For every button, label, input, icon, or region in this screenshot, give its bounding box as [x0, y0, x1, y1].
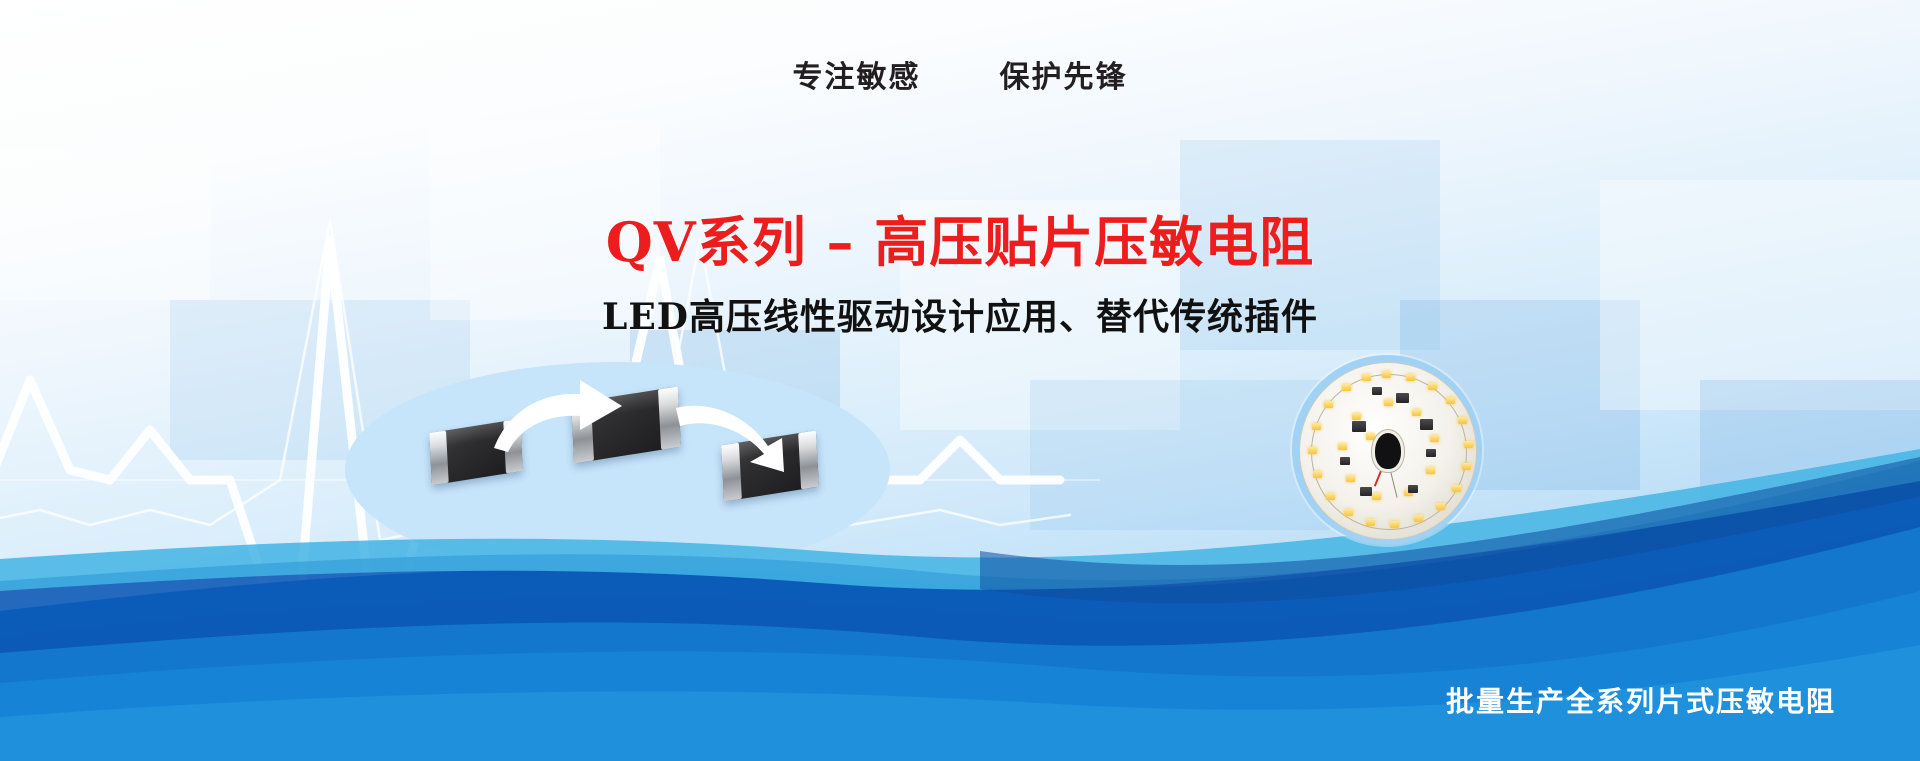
tagline-part-1: 专注敏感	[793, 60, 921, 95]
led-chip	[1308, 447, 1317, 454]
smd-component	[1352, 421, 1366, 432]
led-chip	[1452, 485, 1461, 492]
led-chip	[1436, 503, 1445, 510]
led-chip	[1426, 467, 1435, 474]
led-pcb-board	[1299, 362, 1477, 540]
progression-arrow-1-icon	[488, 378, 628, 456]
led-chip	[1412, 409, 1421, 416]
led-chip	[1338, 443, 1347, 450]
led-chip	[1326, 493, 1335, 500]
led-chip	[1446, 397, 1455, 404]
tagline-part-2: 保护先锋	[999, 60, 1127, 95]
led-chip	[1462, 463, 1471, 470]
led-chip	[1382, 371, 1391, 378]
product-banner: 专注敏感 保护先锋 QV系列 – 高压贴片压敏电阻 LED高压线性驱动设计应用、…	[0, 0, 1920, 761]
smd-component	[1360, 487, 1372, 496]
headline: QV系列 – 高压贴片压敏电阻	[0, 198, 1920, 277]
led-chip	[1430, 435, 1439, 442]
led-pcb-module	[1292, 355, 1482, 545]
smd-component	[1426, 449, 1436, 457]
led-chip	[1414, 515, 1423, 522]
led-chip	[1428, 383, 1437, 390]
progression-arrow-2-icon	[672, 392, 808, 472]
led-chip	[1346, 475, 1355, 482]
smd-component	[1396, 393, 1409, 403]
led-chip	[1390, 521, 1399, 528]
led-chip	[1362, 374, 1371, 381]
tagline: 专注敏感 保护先锋	[0, 52, 1920, 96]
led-chip	[1352, 413, 1361, 420]
led-chip	[1464, 441, 1473, 448]
smd-component	[1340, 457, 1350, 465]
led-chip	[1312, 423, 1321, 430]
smd-component	[1420, 419, 1433, 430]
led-chip	[1342, 384, 1351, 391]
led-chip	[1313, 471, 1322, 478]
led-chip	[1366, 519, 1375, 526]
smd-component	[1408, 485, 1418, 493]
footnote-caption: 批量生产全系列片式压敏电阻	[1446, 680, 1836, 720]
led-chip	[1344, 509, 1353, 516]
smd-component	[1372, 387, 1382, 395]
led-chip	[1366, 433, 1375, 440]
led-chip	[1406, 374, 1415, 381]
center-hub	[1375, 433, 1401, 469]
led-chip	[1458, 417, 1467, 424]
led-chip	[1324, 401, 1333, 408]
subheadline: LED高压线性驱动设计应用、替代传统插件	[0, 288, 1920, 340]
led-chip	[1372, 493, 1381, 500]
led-chip	[1384, 399, 1393, 406]
